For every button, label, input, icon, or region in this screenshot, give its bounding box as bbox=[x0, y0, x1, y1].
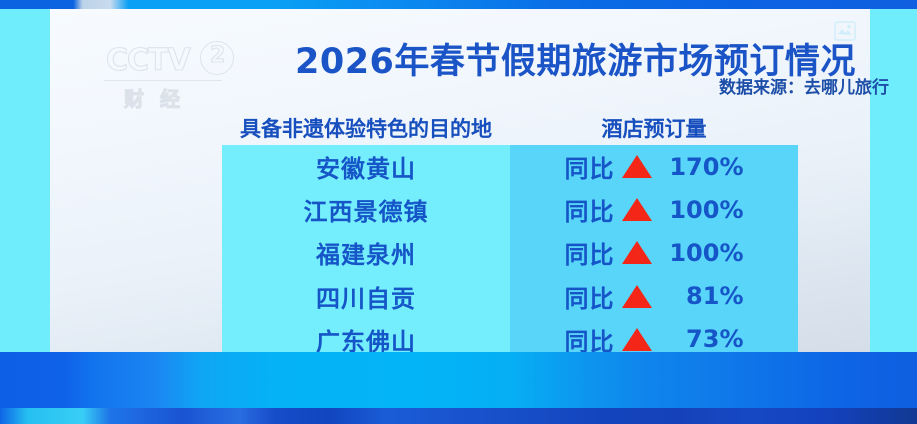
yoy-label: 同比 bbox=[565, 149, 615, 184]
table-column-headers: 具备非遗体验特色的目的地 酒店预订量 bbox=[222, 113, 798, 143]
table-row: 同比 100% bbox=[510, 188, 798, 231]
data-source-note: 数据来源：去哪儿旅行 bbox=[50, 73, 905, 98]
destination-label: 江西景德镇 bbox=[304, 192, 429, 227]
cctv-channel-badge: 2 bbox=[200, 41, 234, 75]
up-triangle-icon bbox=[622, 285, 652, 308]
up-triangle-icon bbox=[622, 328, 652, 351]
main-content-panel: CCTV 2 财经 2026年春节假期旅游市场预订情况 数据来源：去哪儿旅行 具… bbox=[50, 9, 870, 352]
yoy-value: 73% bbox=[656, 325, 744, 353]
up-triangle-icon bbox=[622, 198, 652, 221]
column-header-bookings: 酒店预订量 bbox=[510, 113, 798, 143]
yoy-label: 同比 bbox=[565, 192, 615, 227]
table-row: 四川自贡 bbox=[222, 275, 510, 318]
left-cyan-strip bbox=[0, 9, 50, 352]
table-column-destinations: 安徽黄山 江西景德镇 福建泉州 四川自贡 广东佛山 bbox=[222, 145, 510, 361]
up-triangle-icon bbox=[622, 241, 652, 264]
destination-label: 安徽黄山 bbox=[316, 149, 416, 184]
bottom-blue-band bbox=[0, 352, 917, 424]
yoy-value: 170% bbox=[656, 153, 744, 181]
table-row: 同比 100% bbox=[510, 231, 798, 274]
table-column-booking-values: 同比 170% 同比 100% 同比 100% 同比 81% bbox=[510, 145, 798, 361]
yoy-label: 同比 bbox=[565, 235, 615, 270]
destination-label: 福建泉州 bbox=[316, 235, 416, 270]
up-triangle-icon bbox=[622, 155, 652, 178]
cctv-channel-number: 2 bbox=[210, 43, 225, 68]
yoy-value: 81% bbox=[656, 282, 744, 310]
column-header-destination: 具备非遗体验特色的目的地 bbox=[222, 113, 510, 143]
table-row: 江西景德镇 bbox=[222, 188, 510, 231]
yoy-value: 100% bbox=[656, 239, 744, 267]
data-table: 安徽黄山 江西景德镇 福建泉州 四川自贡 广东佛山 同比 bbox=[222, 145, 798, 361]
table-row: 同比 81% bbox=[510, 275, 798, 318]
yoy-label: 同比 bbox=[565, 279, 615, 314]
table-row: 同比 170% bbox=[510, 145, 798, 188]
table-row: 安徽黄山 bbox=[222, 145, 510, 188]
yoy-value: 100% bbox=[656, 196, 744, 224]
top-blue-band bbox=[0, 0, 917, 9]
table-row: 福建泉州 bbox=[222, 231, 510, 274]
destination-label: 四川自贡 bbox=[316, 279, 416, 314]
broadcast-screen: CCTV 2 财经 2026年春节假期旅游市场预订情况 数据来源：去哪儿旅行 具… bbox=[0, 0, 917, 424]
